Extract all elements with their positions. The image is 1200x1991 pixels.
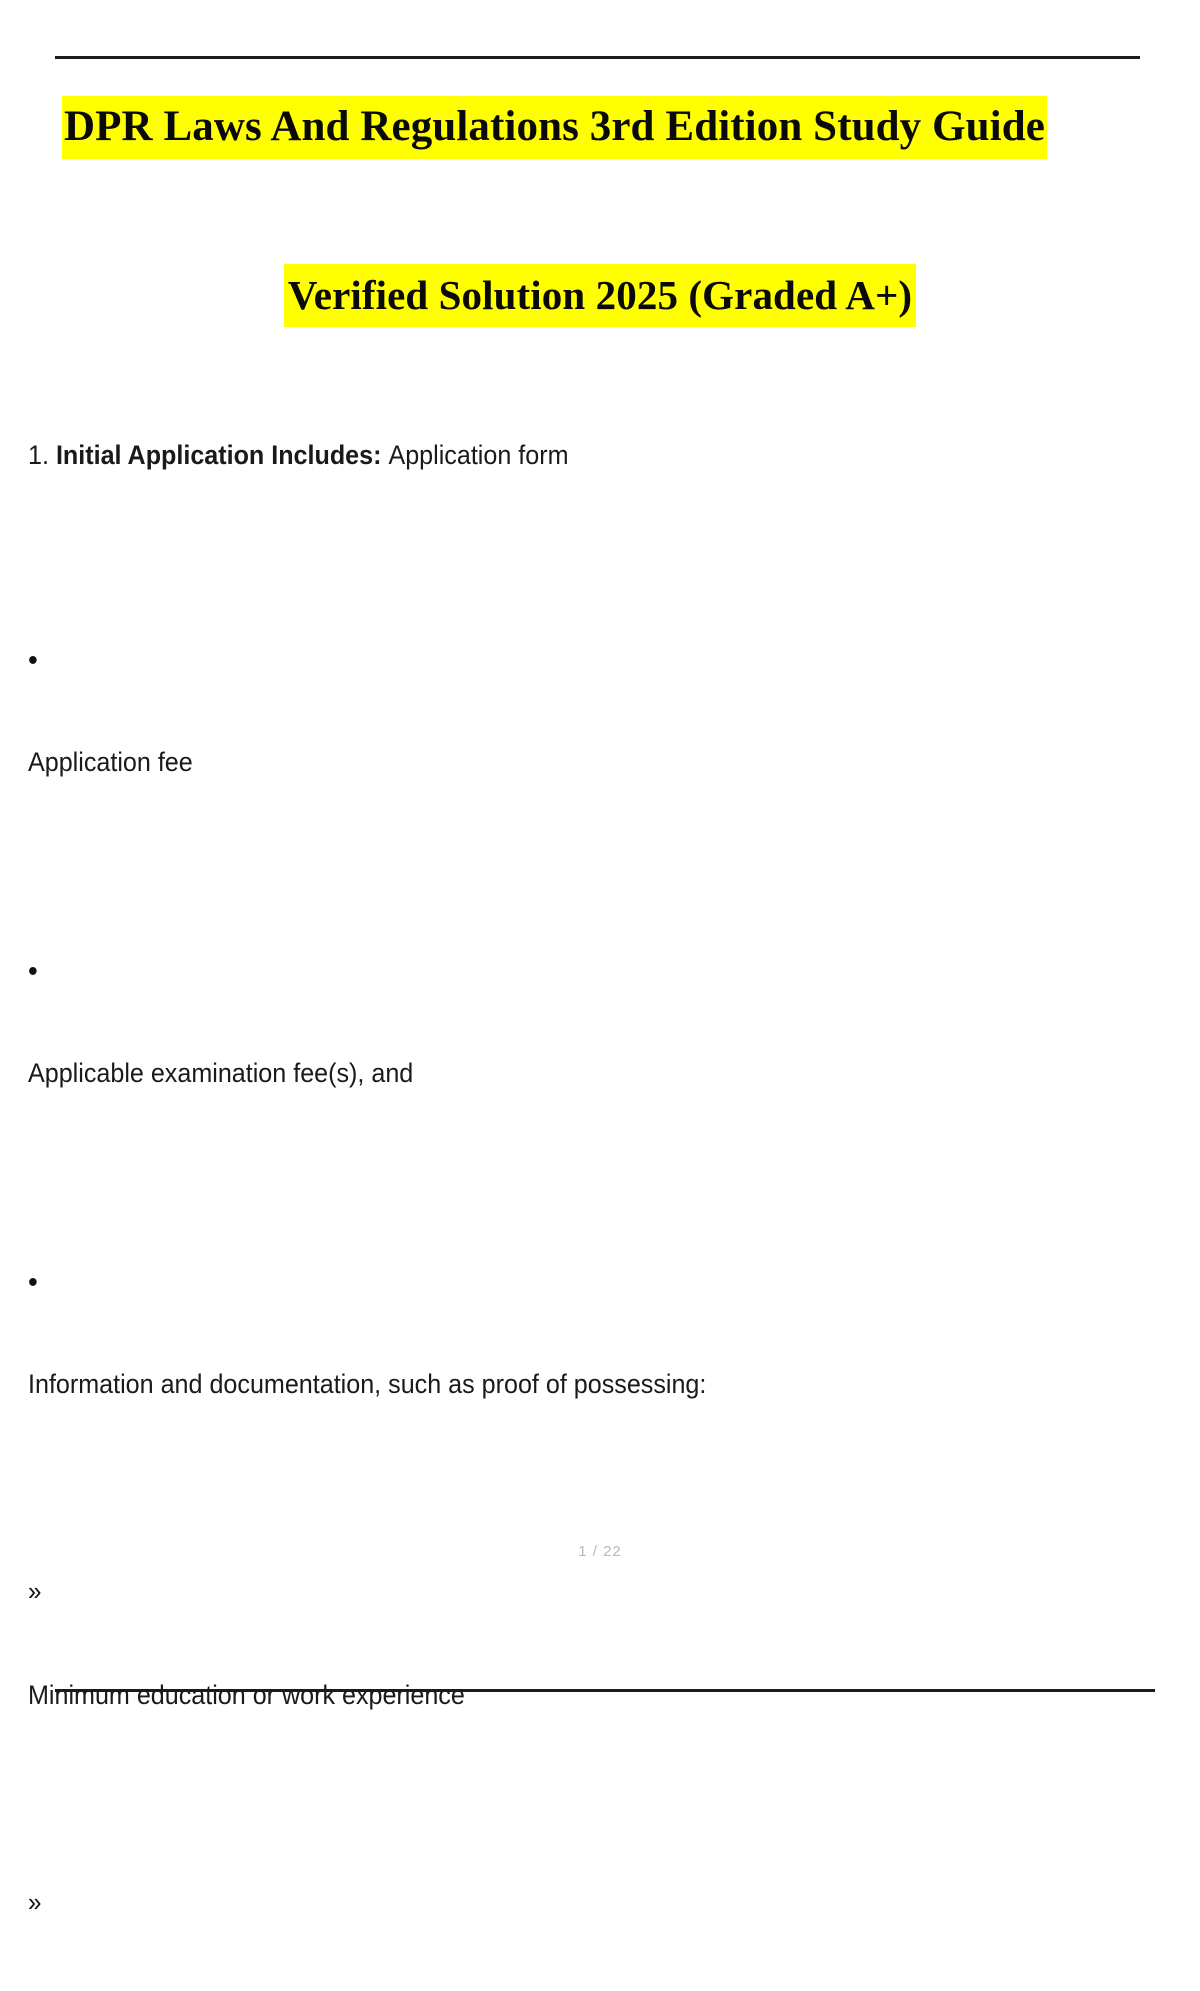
document-page: DPR Laws And Regulations 3rd Edition Stu… [0,0,1200,1700]
bullet-1-text-row: Application fee [28,747,1168,954]
sub-item-2-marker-row: » [28,1887,1168,1991]
bullet-2-text: Applicable examination fee(s), and [28,1058,1088,1090]
bullet-marker-icon: • [28,1265,1088,1300]
header-divider-rule [55,56,1140,59]
document-title-line-2-container: Verified Solution 2025 (Graded A+) [0,264,1200,327]
sub-item-1-text-row: Minimum education or work experience [28,1680,1168,1887]
bullet-marker-icon: • [28,643,1088,678]
document-body: 1. Initial Application Includes: Applica… [28,440,1168,1991]
numbered-item-1-heading: Initial Application Includes: [56,440,382,470]
document-title-line-1: DPR Laws And Regulations 3rd Edition Stu… [62,96,1047,159]
numbered-item-1-number: 1. [28,440,49,470]
bullet-3-text: Information and documentation, such as p… [28,1369,1088,1401]
page-indicator: 1 / 22 [0,1543,1200,1560]
bullet-marker-icon: • [28,954,1088,989]
bullet-2-marker-row: • [28,954,1168,1058]
bullet-1-text: Application fee [28,747,1088,779]
guillemet-marker-icon: » [28,1887,1088,1918]
numbered-item-1: 1. Initial Application Includes: Applica… [28,440,1168,643]
numbered-item-1-answer: Application form [388,440,568,470]
document-title-line-2: Verified Solution 2025 (Graded A+) [284,264,916,327]
bullet-1-marker-row: • [28,643,1168,747]
document-title-line-1-container: DPR Laws And Regulations 3rd Edition Stu… [0,96,1200,159]
guillemet-marker-icon: » [28,1576,1088,1607]
numbered-item-1-line: 1. Initial Application Includes: Applica… [28,440,1088,472]
sub-item-1-text: Minimum education or work experience [28,1680,1088,1712]
bullet-2-text-row: Applicable examination fee(s), and [28,1058,1168,1265]
footer-divider-rule [55,1689,1155,1692]
sub-item-1-marker-row: » [28,1576,1168,1680]
bullet-3-marker-row: • [28,1265,1168,1369]
